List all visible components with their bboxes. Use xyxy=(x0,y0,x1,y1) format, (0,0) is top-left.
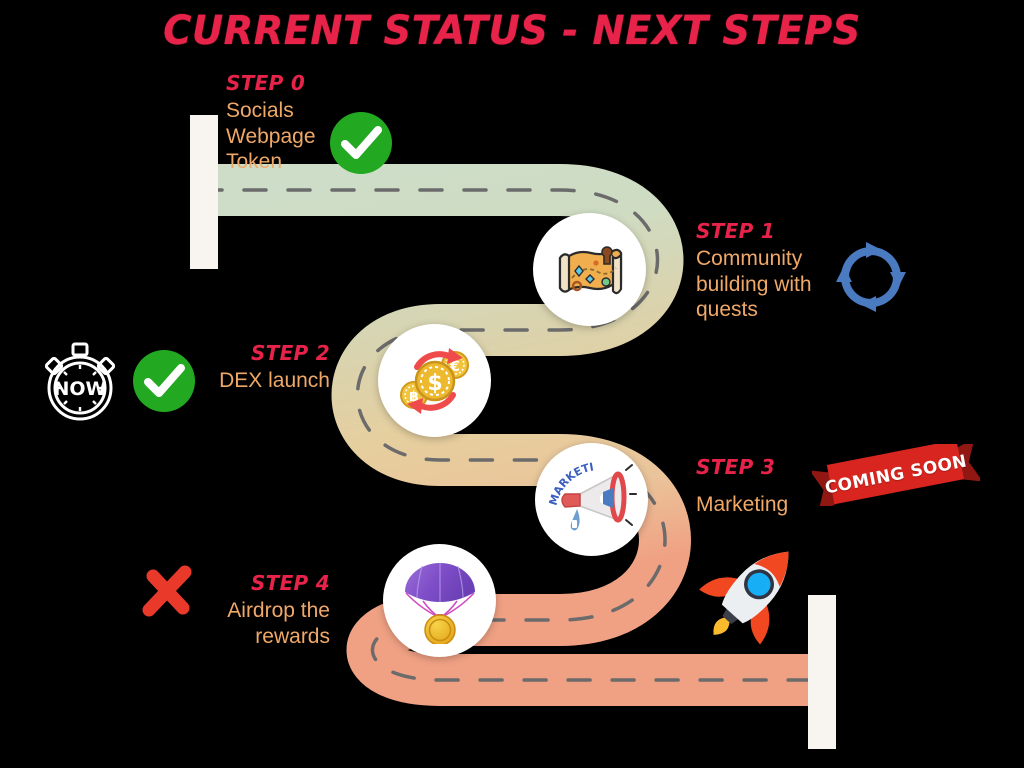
coin-exchange-icon: € ฿ $ xyxy=(393,339,477,423)
parachute-coin-icon xyxy=(397,558,483,644)
step-1-status-progress xyxy=(832,238,910,321)
step-3-medallion: MARKETING xyxy=(535,443,648,556)
step-4-label: STEP 4 xyxy=(175,572,330,594)
step-2-block: STEP 2 DEX launch xyxy=(175,342,330,394)
treasure-map-icon xyxy=(550,230,630,310)
circular-arrows-icon xyxy=(832,238,910,316)
svg-text:$: $ xyxy=(427,371,442,396)
start-marker-bar xyxy=(190,115,218,269)
rocket-marker xyxy=(694,532,812,655)
step-4-block: STEP 4 Airdrop the rewards xyxy=(175,572,330,649)
step-1-description: Community building with quests xyxy=(696,246,846,323)
stopwatch-icon: NOW xyxy=(34,336,126,428)
now-marker: NOW xyxy=(34,336,126,433)
megaphone-icon: MARKETING xyxy=(546,454,638,546)
step-0-description: Socials Webpage Token xyxy=(226,98,426,175)
coming-soon-badge: COMING SOON xyxy=(812,444,980,506)
step-1-block: STEP 1 Community building with quests xyxy=(696,220,846,323)
step-4-description: Airdrop the rewards xyxy=(175,598,330,649)
step-4-medallion xyxy=(383,544,496,657)
rocket-icon xyxy=(694,532,812,650)
now-marker-text: NOW xyxy=(53,378,106,400)
step-0-label: STEP 0 xyxy=(226,72,426,94)
coming-soon-ribbon xyxy=(812,444,980,506)
step-2-label: STEP 2 xyxy=(175,342,330,364)
finish-marker-bar xyxy=(808,595,836,749)
step-1-medallion xyxy=(533,213,646,326)
infographic-canvas: CURRENT STATUS - NEXT STEPS STEP 0 Socia… xyxy=(0,0,1024,768)
step-0-block: STEP 0 Socials Webpage Token xyxy=(226,72,426,175)
check-circle-icon xyxy=(330,112,392,174)
step-0-status-check xyxy=(330,112,392,179)
step-2-medallion: € ฿ $ xyxy=(378,324,491,437)
step-2-description: DEX launch xyxy=(175,368,330,394)
step-1-label: STEP 1 xyxy=(696,220,846,242)
